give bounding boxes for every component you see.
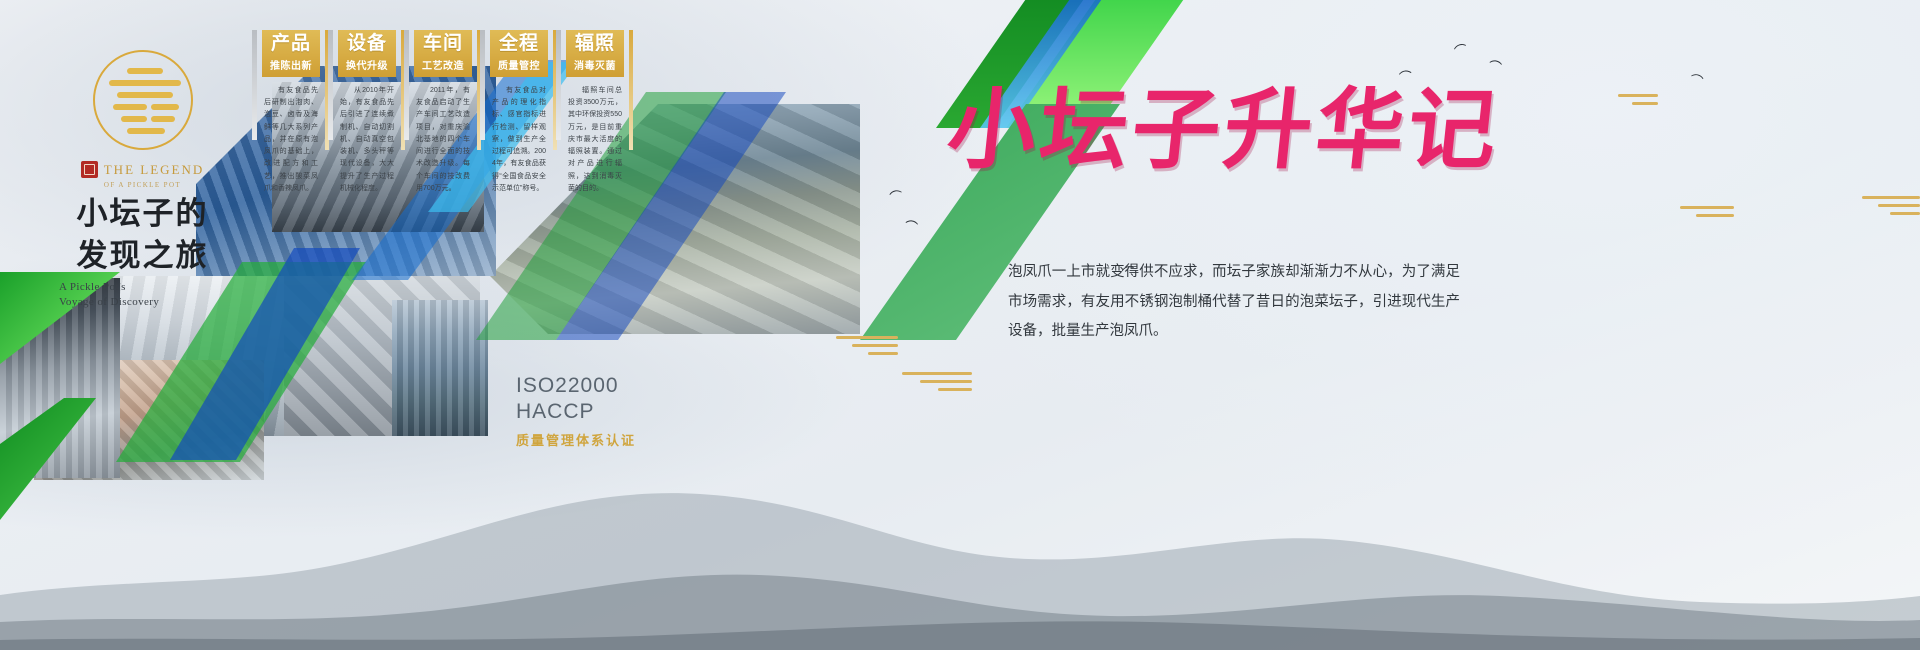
card-rail-left: [480, 30, 485, 140]
card-header: 车间 工艺改造: [414, 30, 472, 77]
card-title: 产品: [265, 34, 317, 54]
card-body: 辐照车间总投资3500万元，其中环保投资550万元，是目前重庆市最大活度的辐照装…: [566, 77, 624, 195]
legend-lockup: THE LEGEND: [55, 161, 230, 178]
info-card-quality: 全程 质量管控 有友食品对产品的理化指标、感官指标进行检测、留样观察，做到生产全…: [490, 30, 548, 195]
legend-en-text: THE LEGEND: [104, 162, 205, 178]
card-subtitle: 质量管控: [493, 57, 545, 72]
card-subtitle: 推陈出新: [265, 57, 317, 72]
card-body: 从2010年开始，有友食品先后引进了连续煮制机、自动切割机、自动真空包装机、多头…: [338, 77, 396, 195]
card-subtitle: 工艺改造: [417, 57, 469, 72]
hero-headline: 小坛子升华记: [948, 88, 1478, 208]
card-title: 辐照: [569, 34, 621, 54]
brand-cn-line1: 小坛子的: [55, 198, 230, 231]
gold-cloud-icon-right: [1862, 196, 1920, 220]
card-rail-left: [556, 30, 561, 140]
card-title: 车间: [417, 34, 469, 54]
card-title: 设备: [341, 34, 393, 54]
red-seal-icon: [81, 161, 98, 178]
gold-cloud-icon-mid: [1680, 206, 1734, 222]
info-card-product: 产品 推陈出新 有友食品先后研制出泡肉、泡豆、卤香及海鲜等几大系列产品，并在原有…: [262, 30, 320, 195]
card-header: 全程 质量管控: [490, 30, 548, 77]
certification-block: ISO22000 HACCP 质量管理体系认证: [516, 373, 636, 449]
brand-en-line1: A Pickle Pot's: [55, 280, 230, 295]
bird-icon-6: ︵: [905, 211, 920, 226]
brand-logo-block: THE LEGEND OF A PICKLE POT 小坛子的 发现之旅 A P…: [55, 50, 230, 309]
hero-paragraph: 泡凤爪一上市就变得供不应求，而坛子家族却渐渐力不从心，为了满足市场需求，有友用不…: [1008, 258, 1460, 347]
bird-icon-5: ︵: [887, 181, 902, 196]
certification-haccp: HACCP: [516, 399, 636, 425]
card-rail-left: [252, 30, 257, 140]
card-subtitle: 换代升级: [341, 57, 393, 72]
info-card-workshop: 车间 工艺改造 2011年，有友食品启动了生产车间工艺改造项目，对重庆渝北基地的…: [414, 30, 472, 195]
gold-cloud-icon-lower: [836, 336, 898, 360]
bird-icon-2: ︵: [1489, 51, 1504, 66]
card-body: 有友食品对产品的理化指标、感官指标进行检测、留样观察，做到生产全过程可追溯。20…: [490, 77, 548, 195]
card-header: 辐照 消毒灭菌: [566, 30, 624, 77]
hero-headline-text: 小坛子升华记: [943, 88, 1482, 176]
brand-en-line2: Voyage of Discovery: [55, 295, 230, 310]
blue-machinery-photo: [392, 300, 488, 436]
card-rail-left: [404, 30, 409, 140]
gold-cloud-icon-top: [1618, 94, 1658, 110]
card-title: 全程: [493, 34, 545, 54]
gold-cloud-icon-bottom: [902, 372, 972, 396]
card-header: 产品 推陈出新: [262, 30, 320, 77]
poster-canvas: THE LEGEND OF A PICKLE POT 小坛子的 发现之旅 A P…: [0, 0, 1920, 650]
certification-iso: ISO22000: [516, 373, 636, 399]
certification-caption: 质量管理体系认证: [516, 430, 636, 449]
card-subtitle: 消毒灭菌: [569, 57, 621, 72]
brand-cn-line2: 发现之旅: [55, 240, 230, 273]
card-rail-right: [629, 30, 633, 150]
card-header: 设备 换代升级: [338, 30, 396, 77]
info-card-irradiation: 辐照 消毒灭菌 辐照车间总投资3500万元，其中环保投资550万元，是目前重庆市…: [566, 30, 624, 195]
bird-icon-3: ︵: [1397, 61, 1412, 76]
card-body: 有友食品先后研制出泡肉、泡豆、卤香及海鲜等几大系列产品，并在原有泡凤爪的基础上，…: [262, 77, 320, 195]
card-body: 2011年，有友食品启动了生产车间工艺改造项目，对重庆渝北基地的四个车间进行全面…: [414, 77, 472, 195]
info-card-equipment: 设备 换代升级 从2010年开始，有友食品先后引进了连续煮制机、自动切割机、自动…: [338, 30, 396, 195]
legend-sub-text: OF A PICKLE POT: [55, 181, 230, 189]
card-rail-left: [328, 30, 333, 140]
seal-circle-icon: [93, 50, 193, 150]
